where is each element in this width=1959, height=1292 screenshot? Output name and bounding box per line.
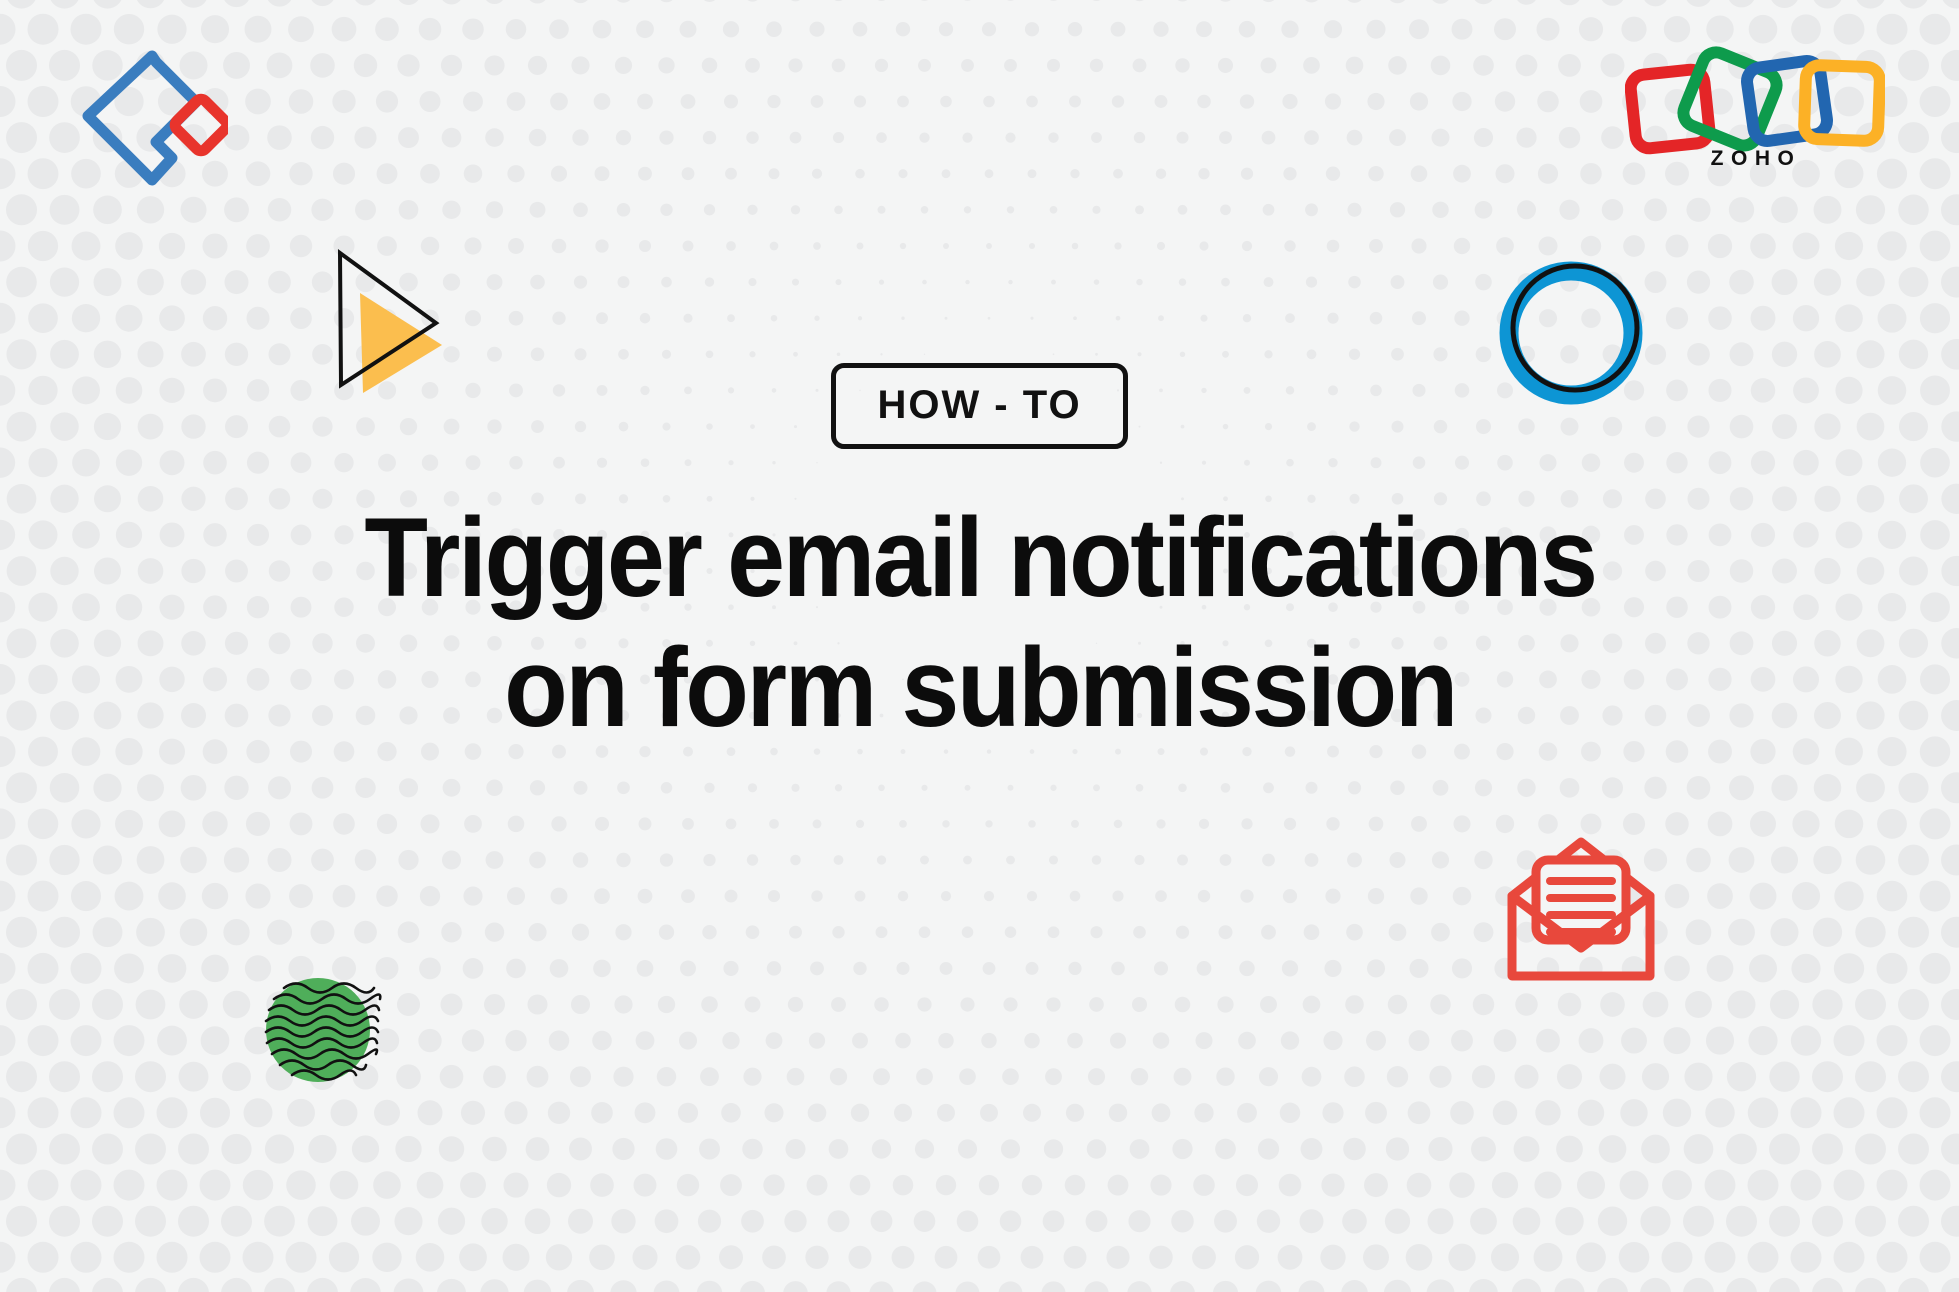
page-title-line-2: on form submission <box>282 623 1677 753</box>
open-envelope-icon <box>1498 826 1664 986</box>
page-title: Trigger email notifications on form subm… <box>282 493 1677 753</box>
chevron-bracket-icon <box>68 48 228 194</box>
how-to-banner: ZOHO HOW - TO Trigger email notification… <box>0 0 1959 1292</box>
banner-content: HOW - TO Trigger email notifications on … <box>0 0 1959 1292</box>
page-title-line-1: Trigger email notifications <box>282 493 1677 623</box>
how-to-badge: HOW - TO <box>831 363 1127 449</box>
circle-ring-icon <box>1487 245 1659 415</box>
green-wave-circle-icon <box>258 968 393 1093</box>
zoho-wordmark: ZOHO <box>1686 148 1826 169</box>
halftone-dot-background <box>0 0 1959 1292</box>
play-triangle-icon <box>330 245 464 395</box>
how-to-badge-label: HOW - TO <box>877 385 1081 425</box>
